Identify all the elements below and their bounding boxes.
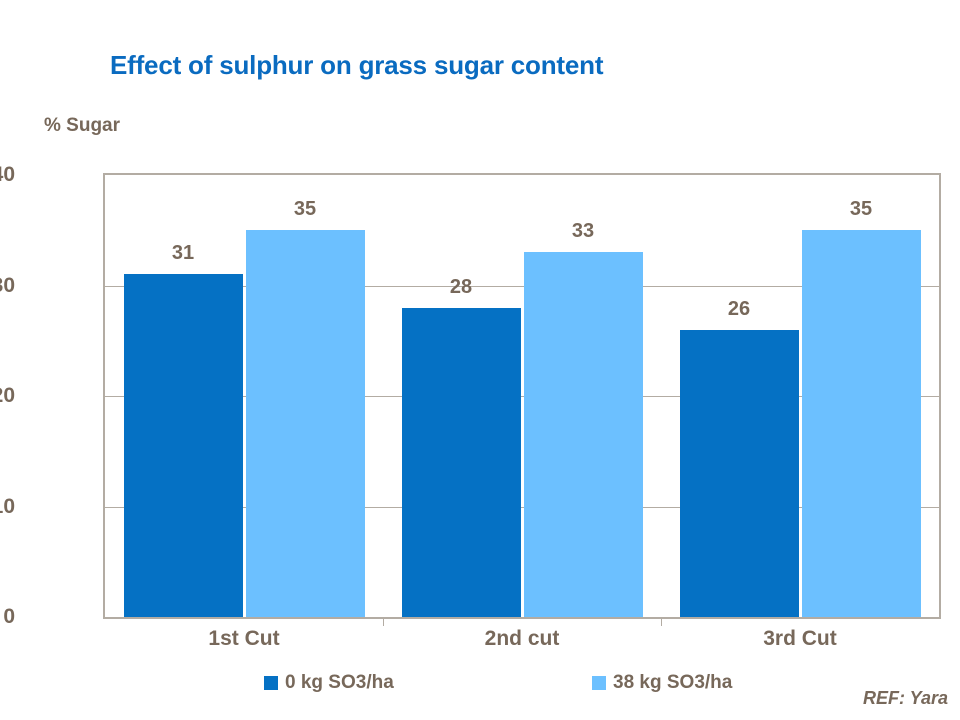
x-axis-separator: [383, 617, 384, 626]
chart-container: Effect of sulphur on grass sugar content…: [0, 0, 960, 720]
bar-value-label: 33: [524, 220, 643, 243]
legend-label: 38 kg SO3/ha: [613, 672, 732, 694]
plot-inner: [105, 175, 939, 617]
bar-3rd-cut-series-0[interactable]: [680, 330, 799, 617]
x-axis-label-1st-cut: 1st Cut: [105, 627, 383, 651]
y-axis-tick-0: 0: [0, 605, 15, 629]
legend-item-0[interactable]: 0 kg SO3/ha: [264, 672, 394, 694]
bar-2nd-cut-series-1[interactable]: [524, 252, 643, 617]
bar-value-label: 35: [802, 198, 921, 221]
bar-1st-cut-series-1[interactable]: [246, 230, 365, 617]
legend-swatch-icon: [264, 676, 278, 690]
x-axis-label-2nd-cut: 2nd cut: [383, 627, 661, 651]
x-axis-label-3rd-cut: 3rd Cut: [661, 627, 939, 651]
reference-note: REF: Yara: [863, 688, 948, 709]
chart-legend: 0 kg SO3/ha38 kg SO3/ha: [0, 672, 960, 698]
y-axis-title: % Sugar: [44, 115, 120, 137]
bar-3rd-cut-series-1[interactable]: [802, 230, 921, 617]
bar-value-label: 28: [402, 276, 521, 299]
y-axis-tick-30: 30: [0, 274, 15, 298]
bar-value-label: 31: [124, 242, 243, 265]
plot-area: [103, 173, 941, 619]
legend-swatch-icon: [592, 676, 606, 690]
bar-1st-cut-series-0[interactable]: [124, 274, 243, 617]
bar-2nd-cut-series-0[interactable]: [402, 308, 521, 617]
y-axis-tick-10: 10: [0, 495, 15, 519]
legend-item-1[interactable]: 38 kg SO3/ha: [592, 672, 732, 694]
chart-title: Effect of sulphur on grass sugar content: [110, 50, 870, 81]
bar-value-label: 35: [246, 198, 365, 221]
bar-value-label: 26: [680, 298, 799, 321]
legend-label: 0 kg SO3/ha: [285, 672, 394, 694]
x-axis-separator: [661, 617, 662, 626]
y-axis-tick-40: 40: [0, 163, 15, 187]
y-axis-tick-20: 20: [0, 384, 15, 408]
